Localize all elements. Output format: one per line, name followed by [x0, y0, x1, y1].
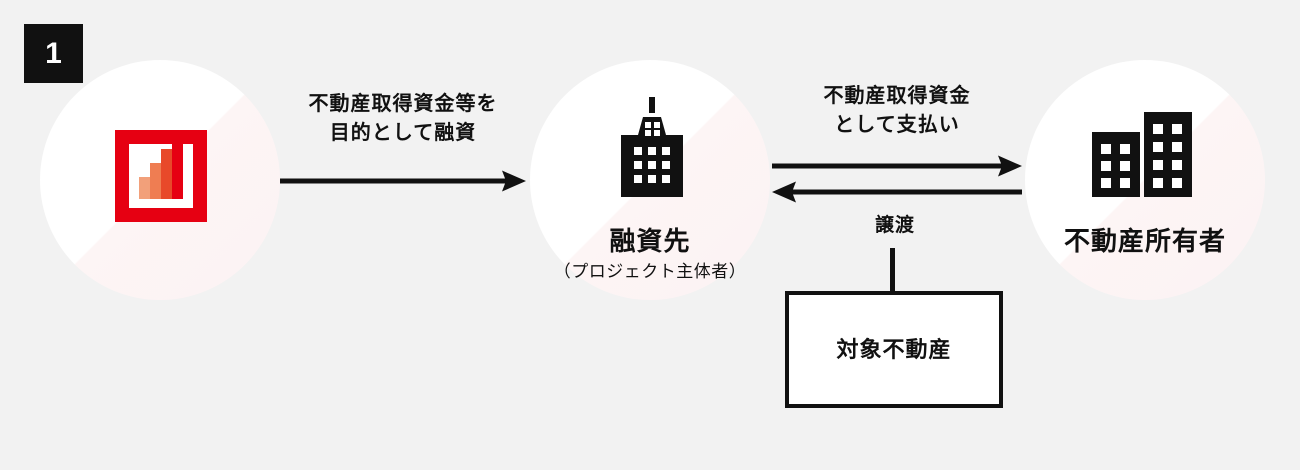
arrow-left-icon-payment [772, 181, 1022, 203]
node-title-borrower: 融資先 [530, 228, 770, 254]
property-box: 対象不動産 [785, 291, 1003, 408]
vertical-connector-line [890, 248, 895, 293]
flow-label-payment-line1: 不動産取得資金 [772, 82, 1022, 111]
bar-chart-frame-icon [115, 130, 207, 222]
node-subtitle-borrower: （プロジェクト主体者） [520, 263, 780, 280]
step-number-badge: 1 [24, 24, 83, 83]
arrow-right-icon-payment [772, 155, 1022, 177]
flow-label-payment-line2: として支払い [772, 111, 1022, 140]
chart-bars-group [129, 144, 193, 208]
chart-bar-4 [172, 135, 183, 199]
property-box-label: 対象不動産 [836, 339, 951, 361]
diagram-canvas: 1 不動産取得資金等を 目的として融資 [0, 0, 1300, 470]
chart-bar-3 [161, 149, 172, 199]
flow-label-loan: 不動産取得資金等を 目的として融資 [280, 90, 526, 148]
arrow-right-icon-loan [280, 170, 526, 192]
flow-label-loan-line1: 不動産取得資金等を [280, 90, 526, 119]
flow-label-payment: 不動産取得資金 として支払い [772, 82, 1022, 140]
step-number-label: 1 [45, 39, 62, 69]
tower-building-icon [617, 97, 687, 197]
flow-label-transfer: 譲渡 [845, 216, 945, 235]
chart-bar-1 [139, 177, 150, 199]
node-title-owner: 不動産所有者 [1025, 228, 1265, 254]
flow-label-loan-line2: 目的として融資 [280, 119, 526, 148]
two-buildings-icon [1092, 112, 1198, 197]
chart-bar-2 [150, 163, 161, 199]
